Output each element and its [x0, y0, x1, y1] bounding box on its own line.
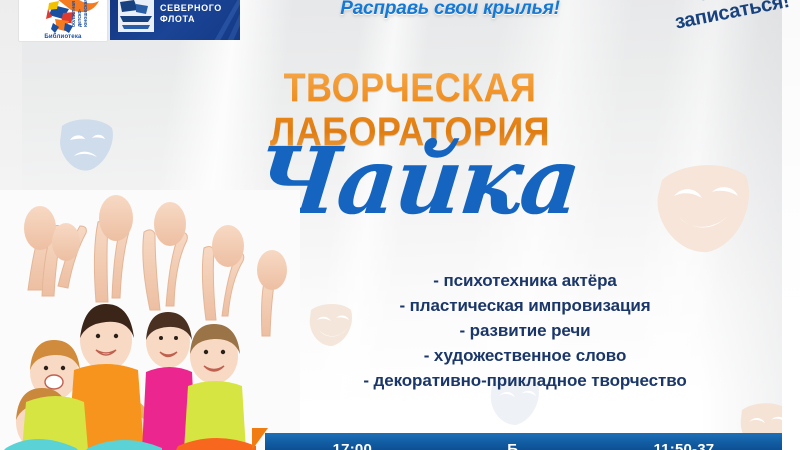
logo-theatre: ТЕАТР СЕВЕРНОГО ФЛОТА [110, 0, 240, 40]
list-item: - психотехника актёра [300, 268, 750, 293]
theatre-logo-line3: ФЛОТА [160, 14, 238, 25]
footer-phone: 11:50-37 [654, 441, 715, 450]
list-item: - декоративно-прикладное творчество [300, 368, 750, 393]
footer-bar: 17:00 Б 11:50-37 [265, 433, 782, 450]
footer-middle: Б [507, 441, 518, 450]
program-list: - психотехника актёра - пластическая имп… [300, 268, 750, 393]
library-logo-caption: Библиотека [19, 34, 107, 40]
ship-emblem-icon [118, 0, 154, 32]
theatre-logo-text: ТЕАТР СЕВЕРНОГО ФЛОТА [160, 0, 238, 25]
logo-library: Мурманская областная детско-юношеская Би… [18, 0, 108, 42]
footer-row: 17:00 Б 11:50-37 [265, 438, 782, 450]
background-right-margin [782, 0, 800, 450]
wordmark-text: Чайка [250, 125, 584, 237]
cheering-children-photo [0, 190, 300, 450]
library-logo-side-right: областная детско-юношеская [71, 0, 89, 27]
list-item: - пластическая импровизация [300, 293, 750, 318]
theatre-logo-line2: СЕВЕРНОГО [160, 3, 238, 14]
children-illustration [0, 190, 300, 450]
footer-time: 17:00 [333, 441, 372, 450]
poster-tagline: Расправь свои крылья! [300, 0, 600, 20]
list-item: - художественное слово [300, 343, 750, 368]
poster-canvas: Мурманская областная детско-юношеская Би… [0, 0, 800, 450]
list-item: - развитие речи [300, 318, 750, 343]
